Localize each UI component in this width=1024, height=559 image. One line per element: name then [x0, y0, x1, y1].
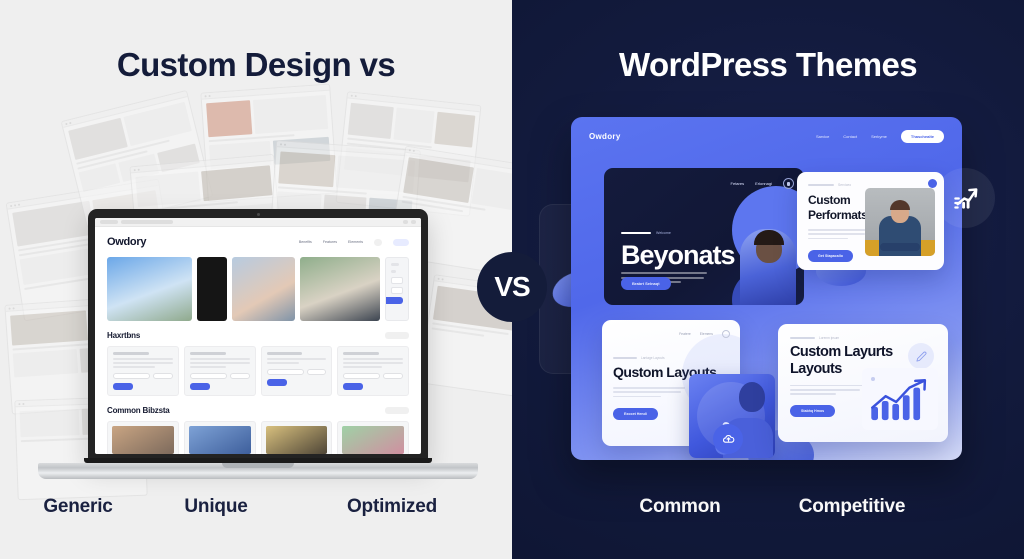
hero-nav-link[interactable]: Fetares [731, 181, 745, 186]
browser-chrome [95, 218, 421, 227]
vs-badge: VS [477, 252, 547, 322]
section-heading: Haxrtbns [107, 331, 409, 340]
growth-chart-arrow-icon [935, 168, 995, 228]
panel-nav-link[interactable]: Serkyme [871, 134, 887, 139]
bar-chart-arrow-icon [862, 368, 938, 430]
hero-navbar: Fetares Erlonnagi [731, 178, 794, 189]
section-heading-text: Haxrtbns [107, 331, 140, 340]
layouts-kicker: Lorenm ipsum [790, 336, 936, 340]
hero-tile-sky [107, 257, 192, 321]
qustom-nav-link[interactable]: Elemens [700, 332, 713, 336]
wordpress-theme-panel: Owdory Sarvice Contact Serkyme Thascheal… [571, 117, 962, 460]
laptop-base [38, 463, 478, 479]
grid-card[interactable] [261, 421, 333, 454]
custom-performats-card: Serviceo Custom Performats Get Stapacall… [797, 172, 944, 270]
site-nav-link[interactable]: Features [323, 240, 337, 244]
grid-card[interactable] [107, 346, 179, 396]
card-grid [107, 346, 409, 396]
qustom-navbar: Featere Elemens [679, 330, 730, 338]
hero-tile-phone [197, 257, 227, 321]
section-more-button[interactable] [385, 407, 409, 414]
hero-title: Beyonats [621, 240, 735, 271]
card-grid [107, 421, 409, 454]
perf-person-photo [865, 188, 935, 256]
qustom-nav-link[interactable]: Featere [679, 332, 691, 336]
qustom-cta-button[interactable]: Exocet Hendi [613, 408, 658, 420]
grid-card[interactable] [337, 421, 409, 454]
dot-badge-icon [928, 179, 937, 188]
hero-nav-link[interactable]: Erlonnagi [755, 181, 772, 186]
section-heading-text: Common Bibzsta [107, 406, 170, 415]
site-nav-link[interactable]: Benefits [299, 240, 312, 244]
cloud-arrow-icon [713, 424, 743, 454]
caption-unique: Unique [173, 496, 259, 518]
panel-nav-link[interactable]: Sarvice [816, 134, 829, 139]
grid-card[interactable] [337, 346, 409, 396]
search-icon[interactable] [374, 239, 382, 246]
right-title: WordPress Themes [512, 46, 1024, 84]
caption-generic: Generic [36, 496, 120, 518]
site-login-button[interactable] [393, 239, 409, 246]
site-preview: Owdory Benefits Features Elements [95, 227, 421, 454]
hero-gallery [107, 257, 409, 321]
perf-kicker-text: Serviceo [838, 183, 851, 187]
hero-cta-button[interactable]: Brabrt Selnaqt [621, 277, 671, 290]
qustom-body-text [613, 387, 685, 397]
laptop-lid: Owdory Benefits Features Elements [88, 209, 428, 461]
laptop-mockup: Owdory Benefits Features Elements [38, 209, 478, 479]
lock-icon[interactable] [783, 178, 794, 189]
panel-navbar: Owdory Sarvice Contact Serkyme Thascheal… [571, 117, 962, 143]
perf-cta-button[interactable]: Get Stapacallo [808, 250, 853, 262]
hero-form-card [385, 257, 409, 321]
hero-kicker: Welcome [621, 231, 671, 235]
hero-kicker-text: Welcome [656, 231, 671, 235]
caption-competitive: Competitive [786, 496, 918, 518]
grid-card[interactable] [107, 421, 179, 454]
hero-tile-portrait-2 [300, 257, 380, 321]
site-nav-link[interactable]: Elements [348, 240, 363, 244]
beyonats-hero-card: Fetares Erlonnagi Welcome Beyonats Brabr… [604, 168, 804, 305]
layouts-cta-button[interactable]: Stabhq Hmos [790, 405, 835, 417]
panel-cta-button[interactable]: Thaschealte [901, 130, 944, 143]
custom-layouts-card: Lorenm ipsum Custom Layurts Layouts Stab… [778, 324, 948, 442]
caption-optimized: Optimized [333, 496, 451, 518]
perf-kicker: Serviceo [808, 183, 933, 187]
panel-nav-link[interactable]: Contact [843, 134, 857, 139]
site-brand: Owdory [107, 236, 146, 248]
grid-card[interactable] [184, 421, 256, 454]
grid-card[interactable] [261, 346, 333, 396]
pencil-icon[interactable] [908, 343, 934, 369]
section-more-button[interactable] [385, 332, 409, 339]
qustom-kicker-text: Lantage Layouts [641, 356, 665, 360]
grid-card[interactable] [184, 346, 256, 396]
perf-body-text [808, 229, 870, 239]
caption-common: Common [625, 496, 735, 518]
left-panel: Owdory Benefits Features Elements [0, 0, 512, 559]
comparison-graphic: Owdory Benefits Features Elements [0, 0, 1024, 559]
panel-brand: Owdory [589, 132, 621, 141]
layouts-kicker-text: Lorenm ipsum [819, 336, 839, 340]
laptop-screen: Owdory Benefits Features Elements [95, 218, 421, 454]
site-navbar: Owdory Benefits Features Elements [107, 236, 409, 248]
layouts-body-text [790, 385, 864, 395]
left-title: Custom Design vs [0, 46, 512, 84]
hero-tile-portrait-1 [232, 257, 295, 321]
section-heading: Common Bibzsta [107, 406, 409, 415]
laptop-camera [257, 213, 260, 216]
circle-icon[interactable] [722, 330, 730, 338]
